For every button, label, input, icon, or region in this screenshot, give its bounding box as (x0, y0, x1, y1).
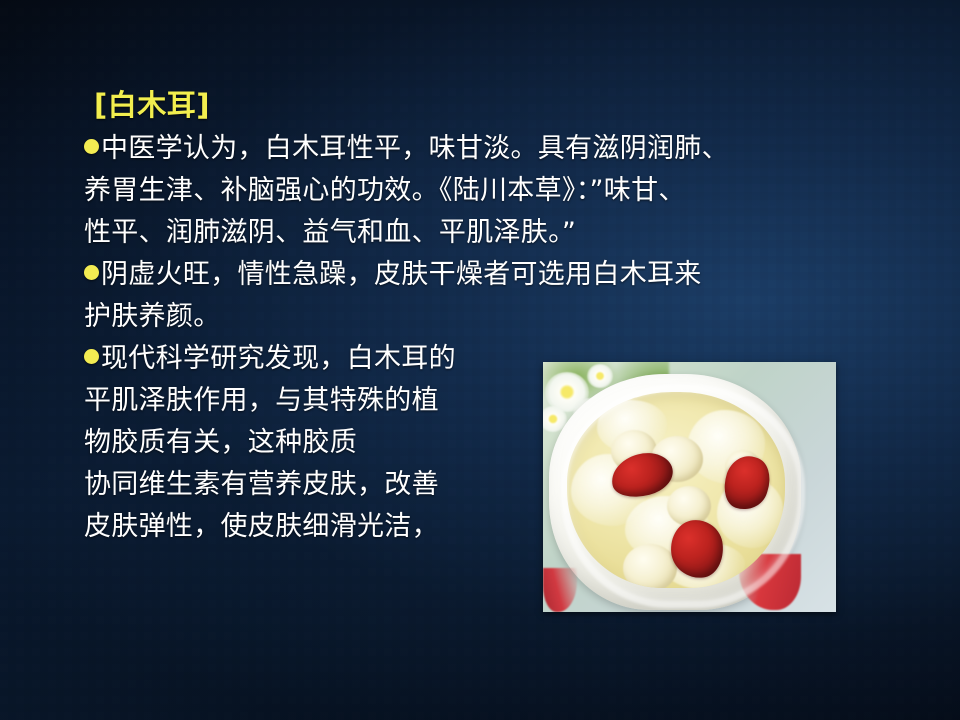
body-line-text: 阴虚火旺，情性急躁，皮肤干燥者可选用白木耳来 (101, 254, 702, 296)
bowl-rim-highlight (561, 384, 805, 608)
body-line-text: 护肤养颜。 (84, 296, 221, 338)
body-line-text: 现代科学研究发现，白木耳的 (101, 338, 456, 380)
flower-decoration (587, 364, 613, 388)
body-line: 阴虚火旺，情性急躁，皮肤干燥者可选用白木耳来 (84, 254, 884, 296)
body-line-text: 皮肤弹性，使皮肤细滑光洁， (84, 506, 439, 548)
bullet-dot-icon (84, 265, 99, 280)
body-line-text: 物胶质有关，这种胶质 (84, 422, 357, 464)
slide-title: [白木耳] (94, 86, 884, 124)
photo-inner (543, 362, 836, 612)
tremella-soup-photo (543, 362, 836, 612)
body-line-text: 协同维生素有营养皮肤，改善 (84, 464, 439, 506)
body-line-text: 养胃生津、补脑强心的功效。《陆川本草》：”味甘、 (84, 170, 686, 212)
bullet-dot-icon (84, 349, 99, 364)
bullet-dot-icon (84, 139, 99, 154)
body-line-text: 平肌泽肤作用，与其特殊的植 (84, 380, 439, 422)
body-line: 性平、润肺滋阴、益气和血、平肌泽肤。” (84, 212, 884, 254)
body-line: 中医学认为，白木耳性平，味甘淡。具有滋阴润肺、 (84, 128, 884, 170)
body-line: 护肤养颜。 (84, 296, 884, 338)
body-line-text: 中医学认为，白木耳性平，味甘淡。具有滋阴润肺、 (101, 128, 729, 170)
body-line-text: 性平、润肺滋阴、益气和血、平肌泽肤。” (84, 212, 576, 254)
body-line: 养胃生津、补脑强心的功效。《陆川本草》：”味甘、 (84, 170, 884, 212)
presentation-slide: [白木耳] 中医学认为，白木耳性平，味甘淡。具有滋阴润肺、 养胃生津、补脑强心的… (0, 0, 960, 720)
